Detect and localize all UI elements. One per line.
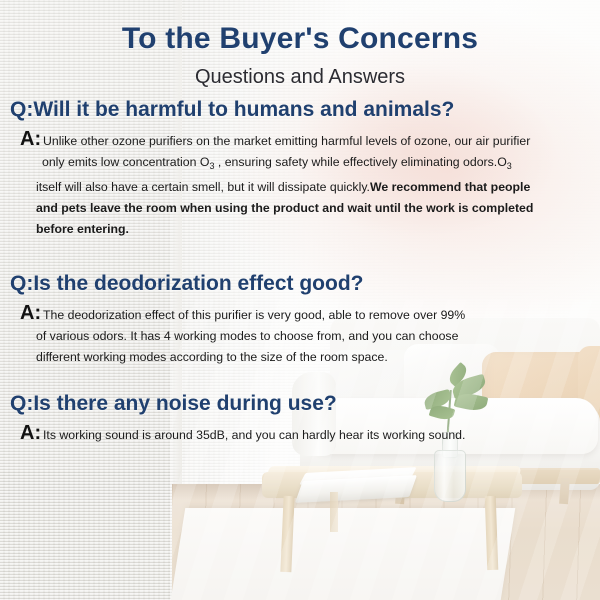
page-title: To the Buyer's Concerns (0, 22, 600, 56)
question-3: Q:Is there any noise during use? (0, 392, 600, 416)
question-2: Q:Is the deodorization effect good? (0, 272, 600, 296)
answer-3-text: Its working sound is around 35dB, and yo… (20, 425, 600, 446)
faq-item-2: Q:Is the deodorization effect good? A: T… (0, 272, 600, 368)
faq-infographic: To the Buyer's Concerns Questions and An… (0, 0, 600, 600)
answer-line: Unlike other ozone purifiers on the mark… (20, 131, 600, 152)
answer-marker: A: (20, 302, 41, 325)
answer-line: only emits low concentration O3 , ensuri… (20, 152, 600, 177)
answer-line: different working modes according to the… (20, 347, 600, 368)
answer-2-text: The deodorization effect of this purifie… (20, 305, 600, 368)
answer-line: before entering. (20, 219, 600, 240)
answer-line: Its working sound is around 35dB, and yo… (20, 425, 600, 446)
faq-content: To the Buyer's Concerns Questions and An… (0, 0, 600, 600)
answer-2: A: The deodorization effect of this puri… (0, 305, 600, 368)
question-1: Q:Will it be harmful to humans and anima… (0, 98, 600, 122)
answer-line: and pets leave the room when using the p… (20, 198, 600, 219)
faq-item-1: Q:Will it be harmful to humans and anima… (0, 98, 600, 240)
answer-1-text: Unlike other ozone purifiers on the mark… (20, 131, 600, 240)
faq-item-3: Q:Is there any noise during use? A: Its … (0, 392, 600, 446)
answer-line: itself will also have a certain smell, b… (20, 177, 600, 198)
answer-1: A: Unlike other ozone purifiers on the m… (0, 131, 600, 240)
page-subtitle: Questions and Answers (0, 66, 600, 89)
answer-marker: A: (20, 422, 41, 445)
answer-line: The deodorization effect of this purifie… (20, 305, 600, 326)
answer-line: of various odors. It has 4 working modes… (20, 326, 600, 347)
answer-marker: A: (20, 128, 41, 151)
answer-3: A: Its working sound is around 35dB, and… (0, 425, 600, 446)
